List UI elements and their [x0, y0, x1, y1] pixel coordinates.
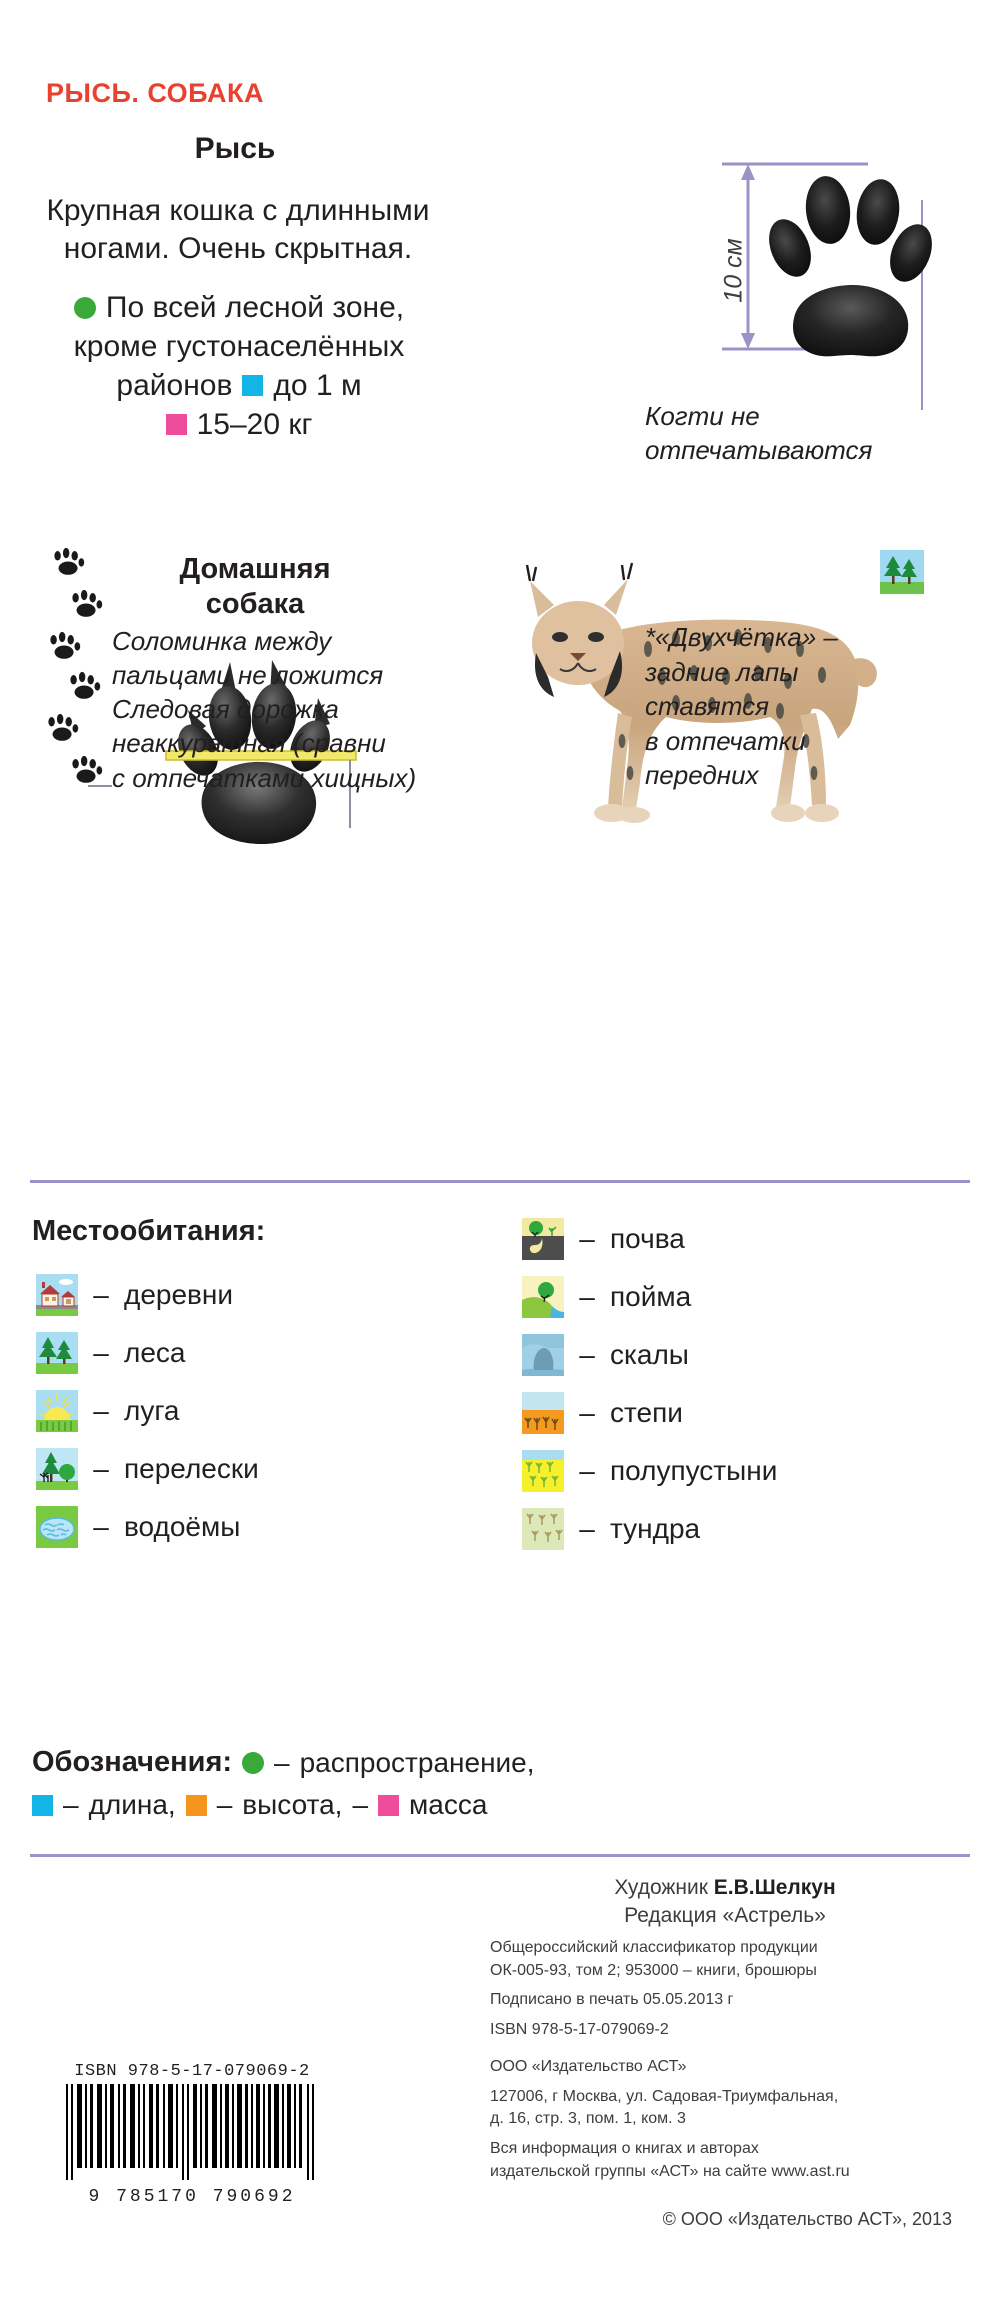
floodplain-icon	[522, 1276, 564, 1318]
lynx-description: Крупная кошка с длинными ногами. Очень с…	[18, 192, 458, 269]
habitat-dash: –	[78, 1395, 124, 1427]
forest-icon	[36, 1332, 78, 1374]
legend-distribution-label: распространение,	[300, 1747, 535, 1779]
habitat-dash: –	[564, 1397, 610, 1429]
steppe-icon	[522, 1392, 564, 1434]
habitat-row-waterbody: – водоёмы	[36, 1500, 259, 1554]
footer-address-line-1: 127006, г Москва, ул. Садовая-Триумфальн…	[490, 2086, 960, 2109]
habitat-label: деревни	[124, 1279, 233, 1311]
habitat-label: скалы	[610, 1339, 689, 1371]
habitat-row-steppe: – степи	[522, 1386, 777, 1440]
footer-address: 127006, г Москва, ул. Садовая-Триумфальн…	[490, 2086, 960, 2131]
dog-heading: Домашняя собака	[130, 552, 380, 622]
habitat-label: водоёмы	[124, 1511, 240, 1543]
habitat-row-tundra: – тундра	[522, 1502, 777, 1556]
habitat-label: почва	[610, 1223, 685, 1255]
habitat-row-forest: – леса	[36, 1326, 259, 1380]
lynx-mass-row: 15–20 кг	[18, 405, 460, 444]
footer-isbn: ISBN 978-5-17-079069-2	[490, 2019, 960, 2042]
habitat-label: леса	[124, 1337, 185, 1369]
trail-note: Следовая дорожка неаккуратная (сравни с …	[112, 692, 442, 795]
straw-note: Соломинка между пальцами не ложится	[112, 624, 432, 693]
barcode-block: ISBN 978-5-17-079069-2	[62, 2062, 322, 2207]
lynx-range-line-3: районов	[116, 366, 232, 405]
dog-heading-line-1: Домашняя	[130, 552, 380, 587]
double-track-line-1: *«Двухчётка» –	[645, 620, 985, 655]
lynx-range-line-1: По всей лесной зоне,	[106, 288, 404, 327]
footer-block: Художник Е.В.Шелкун Редакция «Астрель» О…	[490, 1876, 960, 2230]
semidesert-icon	[522, 1450, 564, 1492]
divider-footer	[30, 1854, 970, 1857]
rocks-icon	[522, 1334, 564, 1376]
double-track-line-5: передних	[645, 758, 985, 793]
habitat-row-rocks: – скалы	[522, 1328, 777, 1382]
legend-block: Обозначения: – распространение, – длина,…	[32, 1746, 972, 1821]
lynx-facts: По всей лесной зоне, кроме густонаселённ…	[18, 288, 460, 444]
claws-note: Когти не отпечатываются	[645, 400, 975, 468]
lynx-range-row-3: районов до 1 м	[18, 366, 460, 405]
habitat-dash: –	[564, 1339, 610, 1371]
straw-note-line-1: Соломинка между	[112, 624, 432, 658]
lynx-mass-value: 15–20 кг	[197, 405, 313, 444]
tundra-icon	[522, 1508, 564, 1550]
length-marker-icon	[242, 375, 263, 396]
double-track-note: *«Двухчётка» – задние лапы ставятся в от…	[645, 620, 985, 793]
distribution-dot-icon	[242, 1752, 264, 1774]
trail-note-line-2: неаккуратная (сравни	[112, 726, 442, 760]
habitat-dash: –	[78, 1511, 124, 1543]
straw-note-line-2: пальцами не ложится	[112, 658, 432, 692]
lynx-description-line-2: ногами. Очень скрытная.	[18, 230, 458, 268]
mass-marker-icon	[166, 414, 187, 435]
habitat-dash: –	[564, 1455, 610, 1487]
habitats-column-right: – почва – пойма	[522, 1212, 777, 1560]
legend-dash: –	[352, 1789, 368, 1821]
habitat-dash: –	[564, 1281, 610, 1313]
distribution-dot-icon	[74, 297, 96, 319]
footer-artist-name: Е.В.Шелкун	[714, 1876, 836, 1899]
trail-note-line-3: с отпечатками хищных)	[112, 761, 442, 795]
legend-dash: –	[217, 1789, 233, 1821]
lynx-range-row-1: По всей лесной зоне,	[18, 288, 460, 327]
footer-print-date: Подписано в печать 05.05.2013 г	[490, 1989, 960, 2012]
habitat-row-soil: – почва	[522, 1212, 777, 1266]
lynx-range-line-2: кроме густонаселённых	[74, 327, 405, 366]
forest-icon	[880, 550, 924, 594]
habitat-label: перелески	[124, 1453, 259, 1485]
habitat-dash: –	[564, 1513, 610, 1545]
card-page: РЫСЬ. СОБАКА Рысь Крупная кошка с длинны…	[0, 0, 1000, 2301]
height-marker-icon	[186, 1795, 207, 1816]
length-marker-icon	[32, 1795, 53, 1816]
legend-mass-label: масса	[409, 1789, 487, 1821]
footer-publisher: ООО «Издательство АСТ»	[490, 2056, 960, 2079]
habitat-row-floodplain: – пойма	[522, 1270, 777, 1324]
claws-note-line-2: отпечатываются	[645, 434, 975, 468]
claws-note-line-1: Когти не	[645, 400, 975, 434]
barcode-bars	[62, 2084, 322, 2180]
habitat-dash: –	[564, 1223, 610, 1255]
footer-artist: Художник Е.В.Шелкун	[490, 1876, 960, 1900]
footer-classifier-line-2: ОК-005-93, том 2; 953000 – книги, брошюр…	[490, 1960, 960, 1983]
double-track-line-2: задние лапы	[645, 655, 985, 690]
habitat-label: луга	[124, 1395, 180, 1427]
page-title: РЫСЬ. СОБАКА	[46, 78, 264, 109]
footer-classifier-line-1: Общероссийский классификатор продукции	[490, 1937, 960, 1960]
lynx-heading: Рысь	[20, 132, 450, 166]
soil-icon	[522, 1218, 564, 1260]
footer-info-line-2: издательской группы «АСТ» на сайте www.a…	[490, 2161, 960, 2184]
legend-dash: –	[63, 1789, 79, 1821]
lynx-length-value: до 1 м	[273, 366, 361, 405]
lynx-range-row-2: кроме густонаселённых	[18, 327, 460, 366]
habitat-row-village: – деревни	[36, 1268, 259, 1322]
habitat-label: степи	[610, 1397, 683, 1429]
footer-info: Вся информация о книгах и авторах издате…	[490, 2138, 960, 2183]
habitat-row-meadow: – луга	[36, 1384, 259, 1438]
paw-height-label: 10 см	[720, 238, 749, 302]
barcode-digits: 9 785170 790692	[62, 2187, 322, 2207]
legend-line-1: Обозначения: – распространение,	[32, 1746, 972, 1779]
mass-marker-icon	[378, 1795, 399, 1816]
footer-info-line-1: Вся информация о книгах и авторах	[490, 2138, 960, 2161]
waterbody-icon	[36, 1506, 78, 1548]
footer-classifier: Общероссийский классификатор продукции О…	[490, 1937, 960, 1982]
meadow-icon	[36, 1390, 78, 1432]
habitat-row-grove: – перелески	[36, 1442, 259, 1496]
habitat-dash: –	[78, 1279, 124, 1311]
double-track-line-4: в отпечатки	[645, 724, 985, 759]
footer-editorial: Редакция «Астрель»	[490, 1904, 960, 1928]
legend-line-2: – длина, – высота, – масса	[32, 1789, 972, 1821]
legend-length-label: длина,	[89, 1789, 176, 1821]
legend-title: Обозначения:	[32, 1746, 232, 1779]
legend-dash: –	[274, 1747, 290, 1779]
footer-address-line-2: д. 16, стр. 3, пом. 1, ком. 3	[490, 2108, 960, 2131]
habitats-column-left: – деревни – леса	[36, 1268, 259, 1558]
double-track-line-3: ставятся	[645, 689, 985, 724]
habitat-label: полупустыни	[610, 1455, 777, 1487]
footer-artist-prefix: Художник	[614, 1876, 713, 1899]
village-icon	[36, 1274, 78, 1316]
grove-icon	[36, 1448, 78, 1490]
lynx-description-line-1: Крупная кошка с длинными	[18, 192, 458, 230]
habitats-title: Местообитания:	[32, 1215, 265, 1248]
habitat-row-semidesert: – полупустыни	[522, 1444, 777, 1498]
habitat-dash: –	[78, 1453, 124, 1485]
dog-heading-line-2: собака	[130, 587, 380, 622]
trail-note-line-1: Следовая дорожка	[112, 692, 442, 726]
footer-copyright: © ООО «Издательство АСТ», 2013	[490, 2209, 960, 2230]
barcode-isbn-text: ISBN 978-5-17-079069-2	[62, 2062, 322, 2081]
divider-habitats	[30, 1180, 970, 1183]
legend-height-label: высота,	[242, 1789, 342, 1821]
habitat-label: пойма	[610, 1281, 691, 1313]
habitat-dash: –	[78, 1337, 124, 1369]
habitat-label: тундра	[610, 1513, 700, 1545]
